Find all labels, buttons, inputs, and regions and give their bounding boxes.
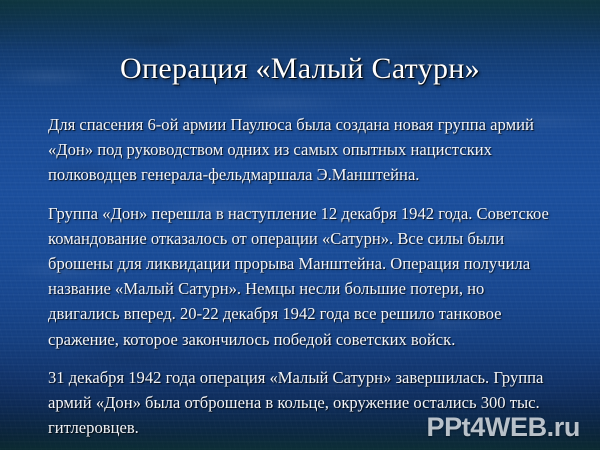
body-paragraph-2: Группа «Дон» перешла в наступление 12 де… [48,201,558,352]
slide-body-text: Для спасения 6-ой армии Паулюса была соз… [48,112,558,440]
slide-content: Операция «Малый Сатурн» Для спасения 6-о… [0,0,600,450]
presentation-slide: Операция «Малый Сатурн» Для спасения 6-о… [0,0,600,450]
site-watermark: PPt4WEB.ru [426,414,580,441]
slide-title: Операция «Малый Сатурн» [0,52,600,85]
body-paragraph-1: Для спасения 6-ой армии Паулюса была соз… [48,112,558,188]
